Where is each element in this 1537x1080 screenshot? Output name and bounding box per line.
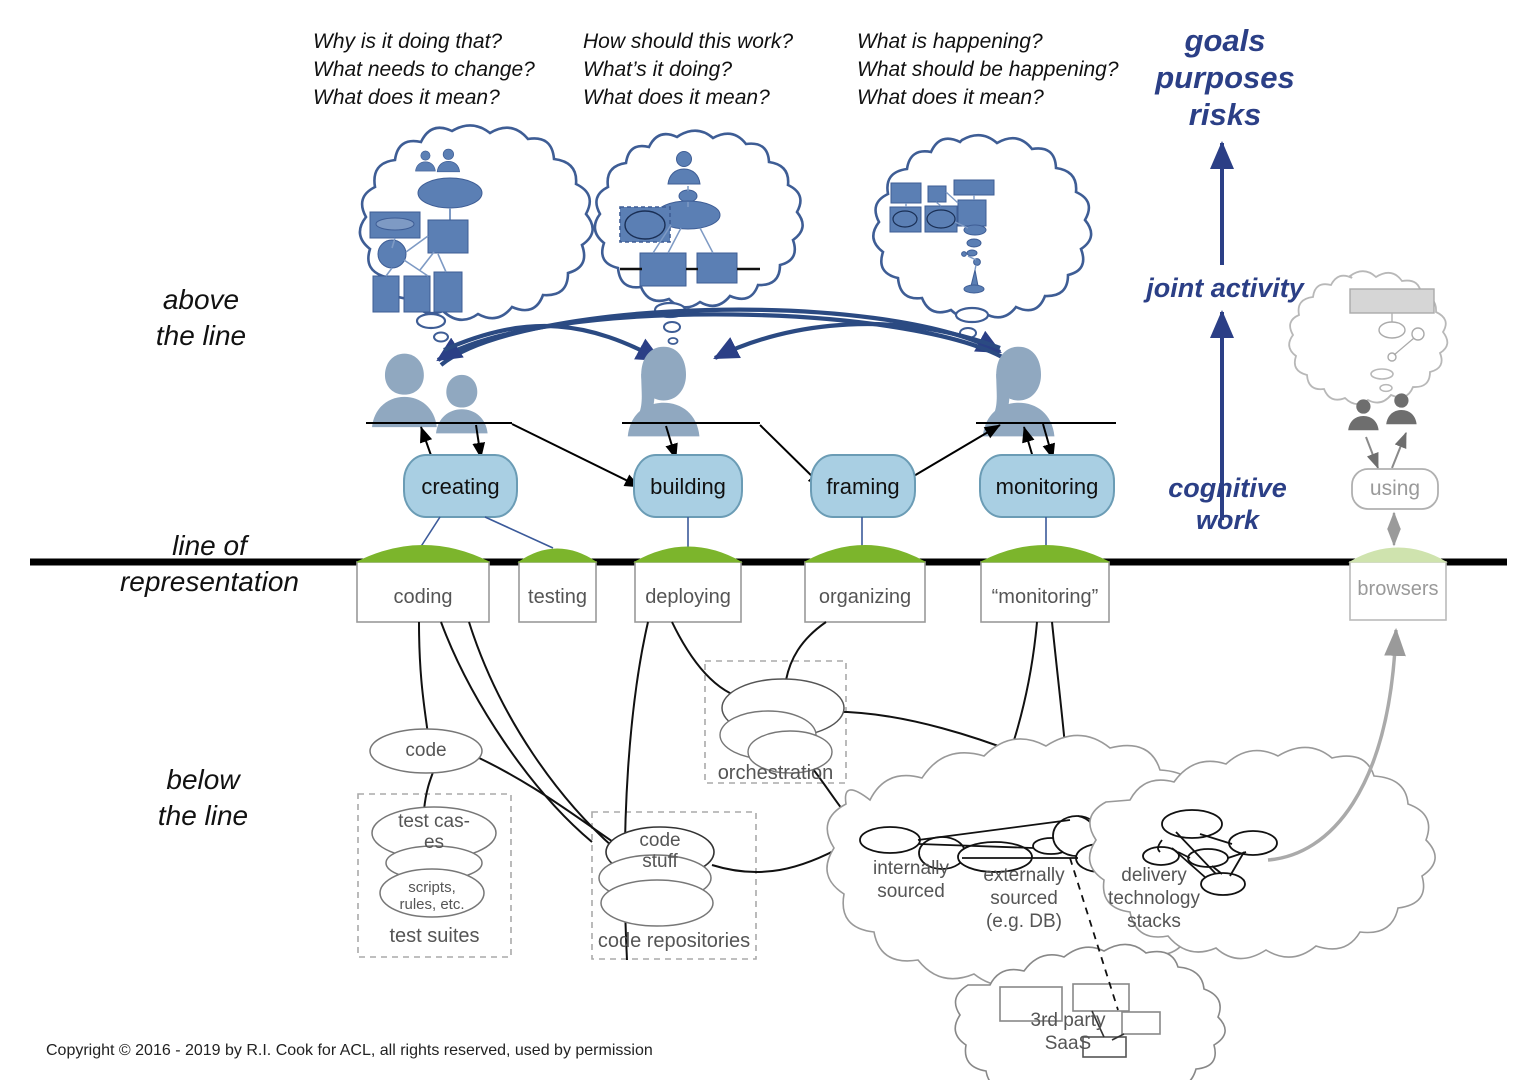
node-label-framing: framing <box>811 474 915 500</box>
label-above-the-line: above the line <box>106 282 296 354</box>
rep-label-testing: testing <box>519 586 596 609</box>
cloud-label-delivery-stacks: delivery technology stacks <box>1098 865 1210 933</box>
rep-deploying[interactable] <box>635 547 741 622</box>
rep-label-coding: coding <box>357 586 489 609</box>
questions-monitoring: What is happening? What should be happen… <box>857 28 1119 112</box>
collaboration-arrows <box>438 310 1015 365</box>
thought-bubble-creating <box>360 125 593 341</box>
rep-label-browsers: browsers <box>1350 578 1446 601</box>
node-label-building: building <box>634 474 742 500</box>
questions-building: How should this work? What’s it doing? W… <box>583 28 793 112</box>
questions-creating: Why is it doing that? What needs to chan… <box>313 28 535 112</box>
label-joint-activity: joint activity <box>1110 272 1340 304</box>
rep-label-deploying: deploying <box>635 586 741 609</box>
representation-nodes <box>357 546 1446 623</box>
cloud-label-externally-sourced: externally sourced (e.g. DB) <box>968 865 1080 933</box>
rep-label-organizing: organizing <box>805 586 925 609</box>
diagram-canvas: Why is it doing that? What needs to chan… <box>0 0 1537 1080</box>
rep-monitoring-quoted[interactable] <box>981 546 1109 623</box>
rep-organizing[interactable] <box>805 546 925 623</box>
label-cognitive-work: cognitive work <box>1140 472 1315 537</box>
node-label-creating: creating <box>404 474 517 500</box>
node-label-using: using <box>1352 477 1438 501</box>
label-below-the-line: below the line <box>108 762 298 834</box>
ellipse-label-code: code <box>371 741 481 762</box>
rep-coding[interactable] <box>357 546 489 623</box>
ellipse-label-test-cases: test cas- es <box>378 812 490 854</box>
group-label-test-suites: test suites <box>358 925 511 948</box>
cloud-label-internally-sourced: internally sourced <box>850 858 972 904</box>
label-line-of-representation: line of representation <box>92 528 327 600</box>
group-label-orchestration: orchestration <box>705 762 846 785</box>
rep-label-monitoring-quoted: “monitoring” <box>981 586 1109 609</box>
ellipse-orchestration[interactable] <box>720 679 844 773</box>
ellipse-label-scripts-rules: scripts, rules, etc. <box>382 880 482 913</box>
thought-bubble-monitoring <box>873 135 1091 338</box>
ellipse-label-code-stuff: code stuff <box>608 831 712 873</box>
label-goals-purposes-risks: goals purposes risks <box>1130 22 1320 134</box>
group-label-code-repositories: code repositories <box>584 930 764 953</box>
cloud-label-third-party-saas: 3rd party SaaS <box>1008 1010 1128 1056</box>
copyright-notice: Copyright © 2016 - 2019 by R.I. Cook for… <box>46 1042 653 1060</box>
capsule-representation-links <box>420 517 1046 548</box>
node-label-monitoring: monitoring <box>980 474 1114 500</box>
